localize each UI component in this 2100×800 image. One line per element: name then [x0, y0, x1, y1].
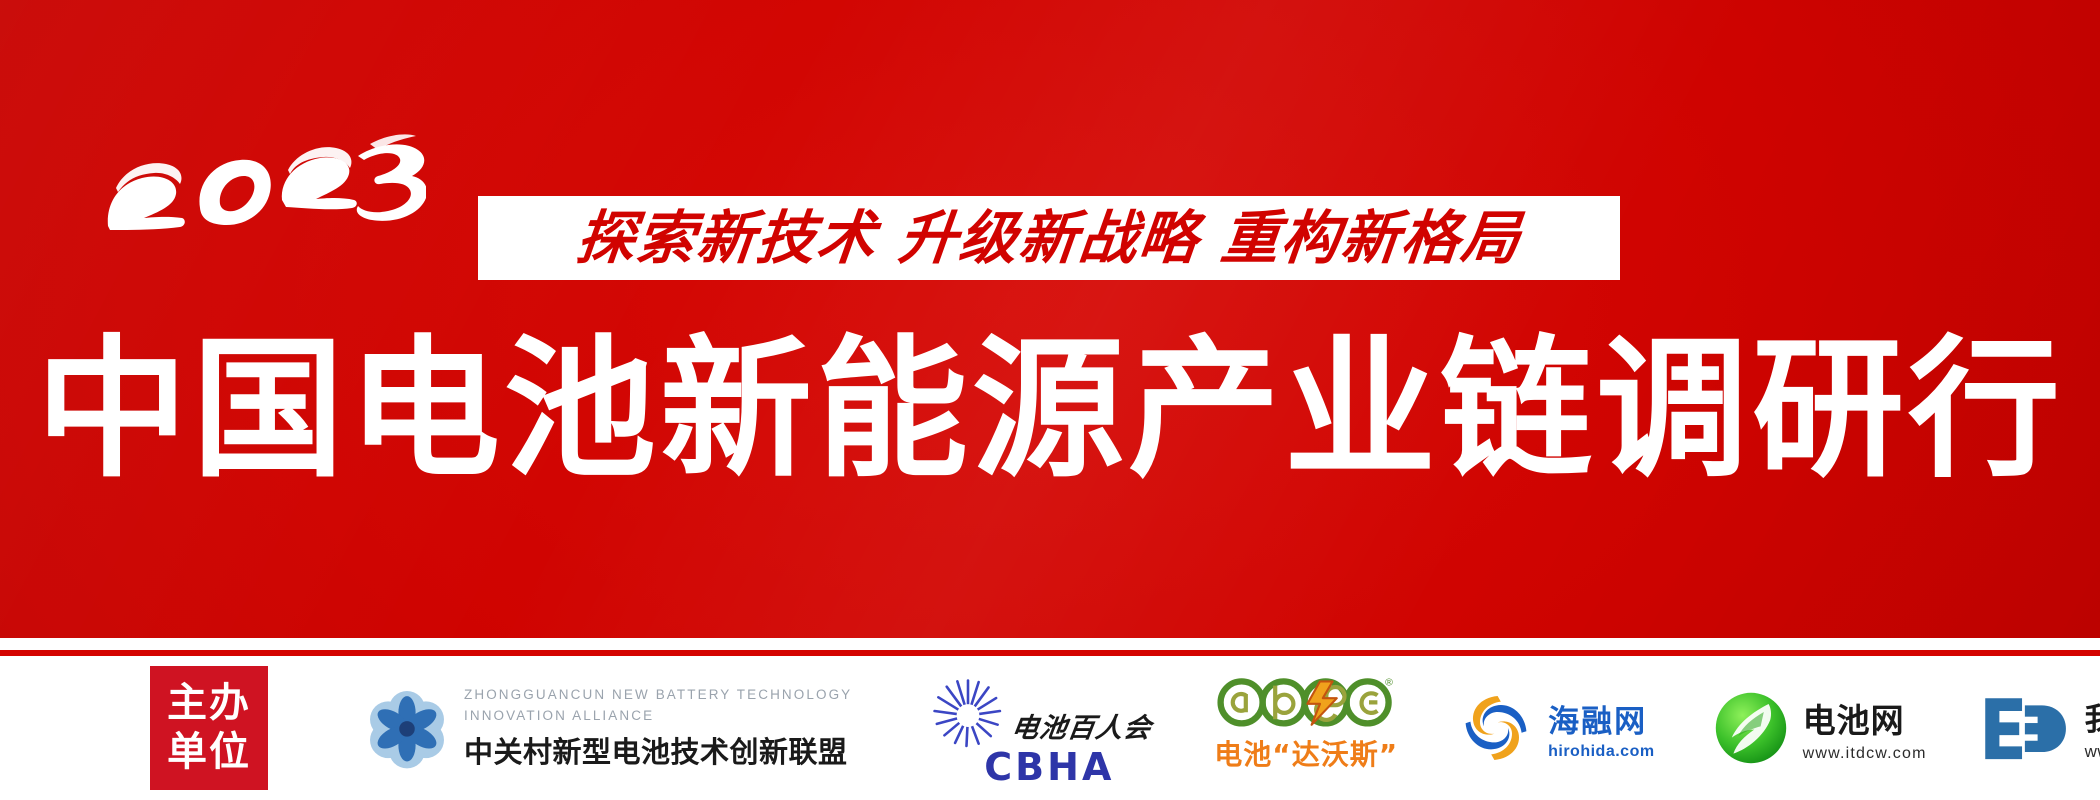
- green-leaf-circle-icon: [1711, 688, 1791, 768]
- slogan-text: 探索新技术 升级新战略 重构新格局: [574, 209, 1524, 267]
- cbha-abbr: CBHA: [984, 745, 1114, 789]
- xevcar-url: www.xevcar.com: [2085, 742, 2100, 762]
- event-banner: 探索新技术 升级新战略 重构新格局 中国电池新能源产业链调研行 主办 单位: [0, 0, 2100, 800]
- logo-hirohida[interactable]: 海融网 hirohida.com: [1456, 673, 1654, 783]
- logo-abec[interactable]: ® 电池“达沃斯”: [1214, 673, 1398, 783]
- zgc-cn-name: 中关村新型电池技术创新联盟: [464, 729, 852, 771]
- zgc-en-line2: INNOVATION ALLIANCE: [464, 706, 852, 726]
- organizer-badge-line2: 单位: [167, 728, 251, 777]
- organizer-badge-line1: 主办: [167, 679, 251, 728]
- divider-white-gap: [0, 638, 2100, 650]
- itdcw-url: www.itdcw.com: [1803, 745, 1927, 763]
- swirl-icon: [1456, 688, 1536, 768]
- hirohida-url: hirohida.com: [1548, 743, 1654, 761]
- flower-rosette-icon: [364, 685, 450, 771]
- hirohida-cn-name: 海融网: [1548, 696, 1654, 741]
- abec-cn-tagline: 电池“达沃斯”: [1214, 733, 1398, 773]
- hero-red-background: [0, 0, 2100, 638]
- itdcw-cn-name: 电池网: [1803, 694, 1927, 742]
- zgc-en-line1: ZHONGGUANCUN NEW BATTERY TECHNOLOGY: [464, 685, 852, 705]
- hero-sheen-overlay: [0, 0, 2100, 638]
- logo-zhongguancun-alliance[interactable]: ZHONGGUANCUN NEW BATTERY TECHNOLOGY INNO…: [364, 673, 852, 783]
- organizer-badge: 主办 单位: [150, 666, 268, 790]
- year-calligraphy-2023: [96, 108, 426, 238]
- logo-itdcw[interactable]: 电池网 www.itdcw.com: [1711, 673, 1927, 783]
- sponsor-bar: 主办 单位: [0, 656, 2100, 800]
- cbha-cn-name: 电池百人会: [1010, 706, 1155, 745]
- svg-text:®: ®: [1385, 677, 1393, 689]
- abec-wordmark-icon: ®: [1215, 673, 1397, 729]
- xevcar-cn-name: 我爱电车网: [2085, 694, 2100, 739]
- logo-xevcar[interactable]: 我爱电车网 www.xevcar.com: [1981, 673, 2100, 783]
- slogan-plaque: 探索新技术 升级新战略 重构新格局: [478, 196, 1620, 280]
- plug-e-icon: [1981, 692, 2073, 764]
- main-title: 中国电池新能源产业链调研行: [0, 330, 2100, 490]
- logo-cbha[interactable]: 电池百人会 CBHA: [930, 673, 1152, 783]
- radial-fan-icon: [930, 673, 1006, 749]
